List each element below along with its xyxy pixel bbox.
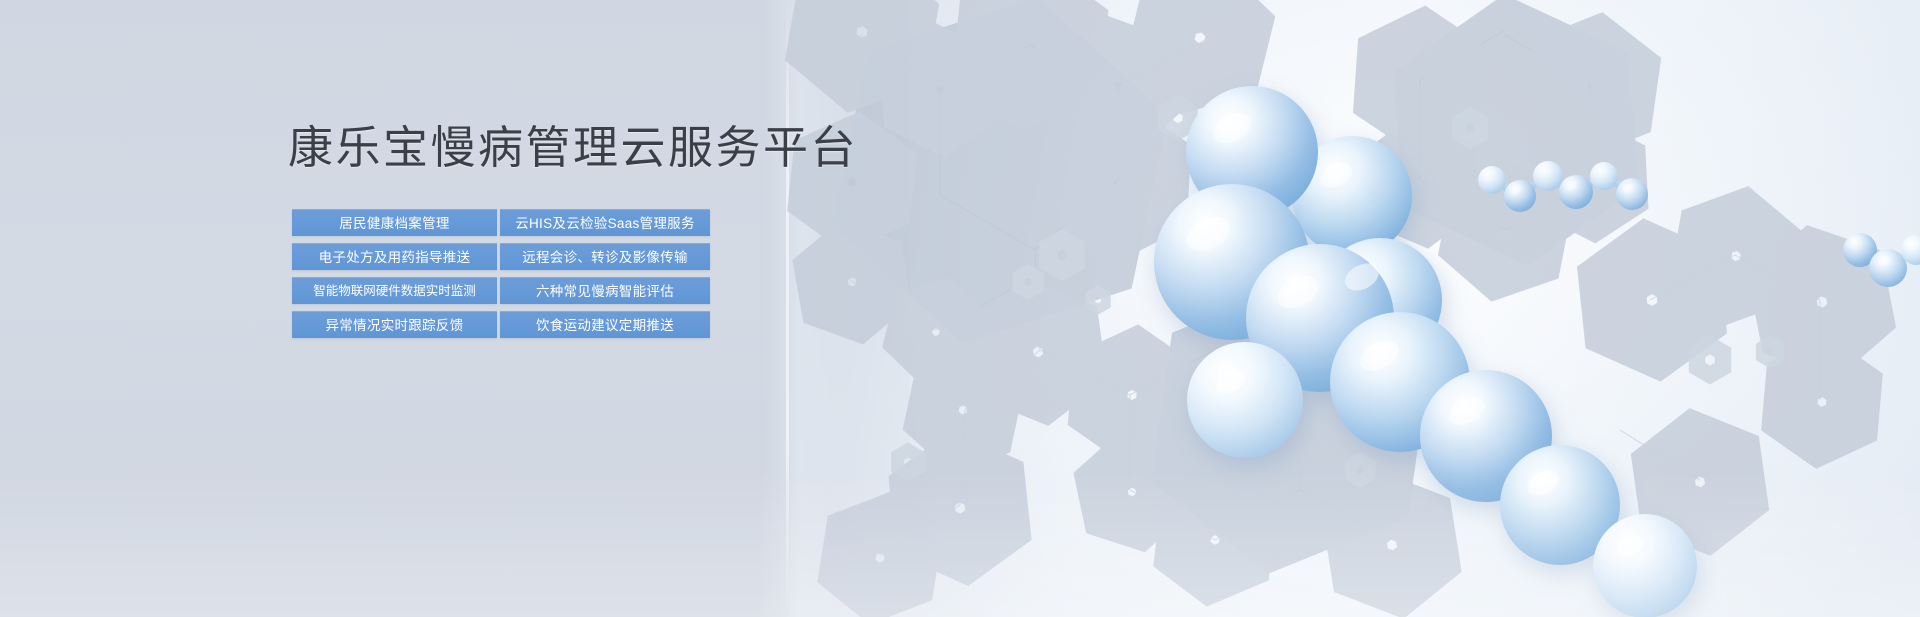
background-bottom-fade	[0, 467, 1920, 617]
feature-item-chronic-disease-assessment[interactable]: 六种常见慢病智能评估	[500, 277, 710, 304]
feature-item-anomaly-tracking[interactable]: 异常情况实时跟踪反馈	[292, 311, 497, 338]
feature-item-resident-health-records[interactable]: 居民健康档案管理	[292, 209, 497, 236]
feature-item-iot-monitoring[interactable]: 智能物联网硬件数据实时监测	[292, 277, 497, 304]
hero-banner: 康乐宝慢病管理云服务平台 居民健康档案管理 云HIS及云检验Saas管理服务 电…	[0, 0, 1920, 617]
feature-item-remote-consultation[interactable]: 远程会诊、转诊及影像传输	[500, 243, 710, 270]
feature-item-diet-exercise-advice[interactable]: 饮食运动建议定期推送	[500, 311, 710, 338]
small-molecule-cluster	[1478, 161, 1920, 287]
page-title: 康乐宝慢病管理云服务平台	[288, 120, 858, 176]
feature-item-cloud-his-lab-saas[interactable]: 云HIS及云检验Saas管理服务	[500, 209, 710, 236]
feature-grid: 居民健康档案管理 云HIS及云检验Saas管理服务 电子处方及用药指导推送 远程…	[292, 209, 710, 338]
feature-item-e-prescription-medication[interactable]: 电子处方及用药指导推送	[292, 243, 497, 270]
